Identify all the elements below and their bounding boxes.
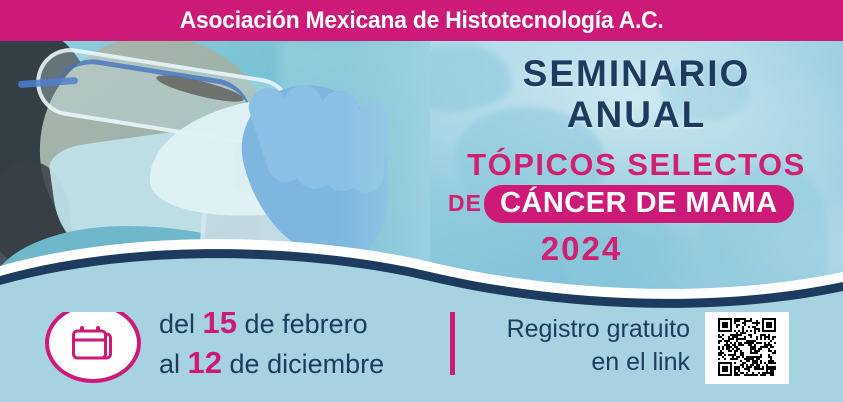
qr-code-icon[interactable] — [715, 318, 779, 376]
association-banner: Asociación Mexicana de Histotecnología A… — [0, 0, 843, 41]
seminar-poster: Asociación Mexicana de Histotecnología A… — [0, 0, 843, 402]
seminar-title-line1: SEMINARIO — [430, 55, 843, 92]
association-name: Asociación Mexicana de Histotecnología A… — [180, 9, 664, 33]
topics-label: TÓPICOS SELECTOS — [430, 149, 843, 180]
date-block: del 15 de febrero al 12 de diciembre — [45, 303, 384, 383]
de-label: DE — [448, 190, 482, 219]
section-divider — [450, 305, 455, 375]
photo-glove-finger — [320, 90, 361, 191]
wave-divider — [0, 232, 843, 312]
photo-glove-finger — [347, 101, 390, 194]
date-to-suffix: de diciembre — [230, 349, 385, 379]
registration-text: Registro gratuito en el link — [490, 313, 690, 378]
registration-line1: Registro gratuito — [490, 313, 690, 346]
subject-pill: CÁNCER DE MAMA — [484, 185, 794, 223]
date-to-prefix: al — [159, 349, 180, 379]
date-to-day: 12 — [188, 345, 222, 380]
date-from-suffix: de febrero — [245, 309, 368, 339]
registration-line2: en el link — [490, 346, 690, 379]
seminar-title-line2: ANUAL — [430, 96, 843, 133]
subject-row: DE CÁNCER DE MAMA — [430, 185, 843, 223]
date-from-prefix: del — [159, 309, 195, 339]
calendar-icon — [45, 303, 141, 383]
qr-code-card[interactable] — [705, 310, 789, 384]
date-to-line: al 12 de diciembre — [159, 343, 384, 383]
date-range-text: del 15 de febrero al 12 de diciembre — [159, 303, 384, 382]
